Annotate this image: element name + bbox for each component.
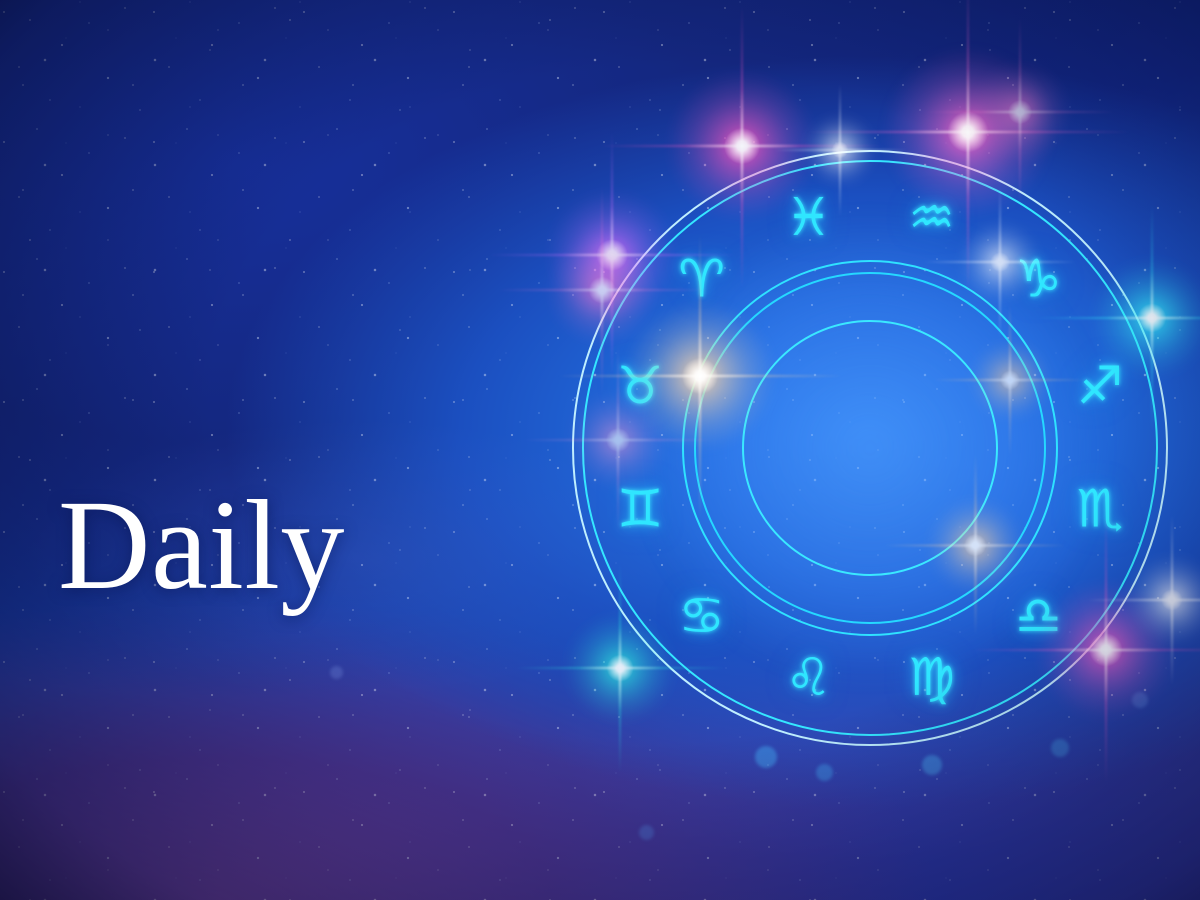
page-title: Daily Panchang bbox=[58, 232, 560, 900]
title-line-1: Daily bbox=[58, 483, 560, 608]
daily-panchang-banner: ♉♈♓♒♑♐♏♎♍♌♋♊ Daily Panchang bbox=[0, 0, 1200, 900]
